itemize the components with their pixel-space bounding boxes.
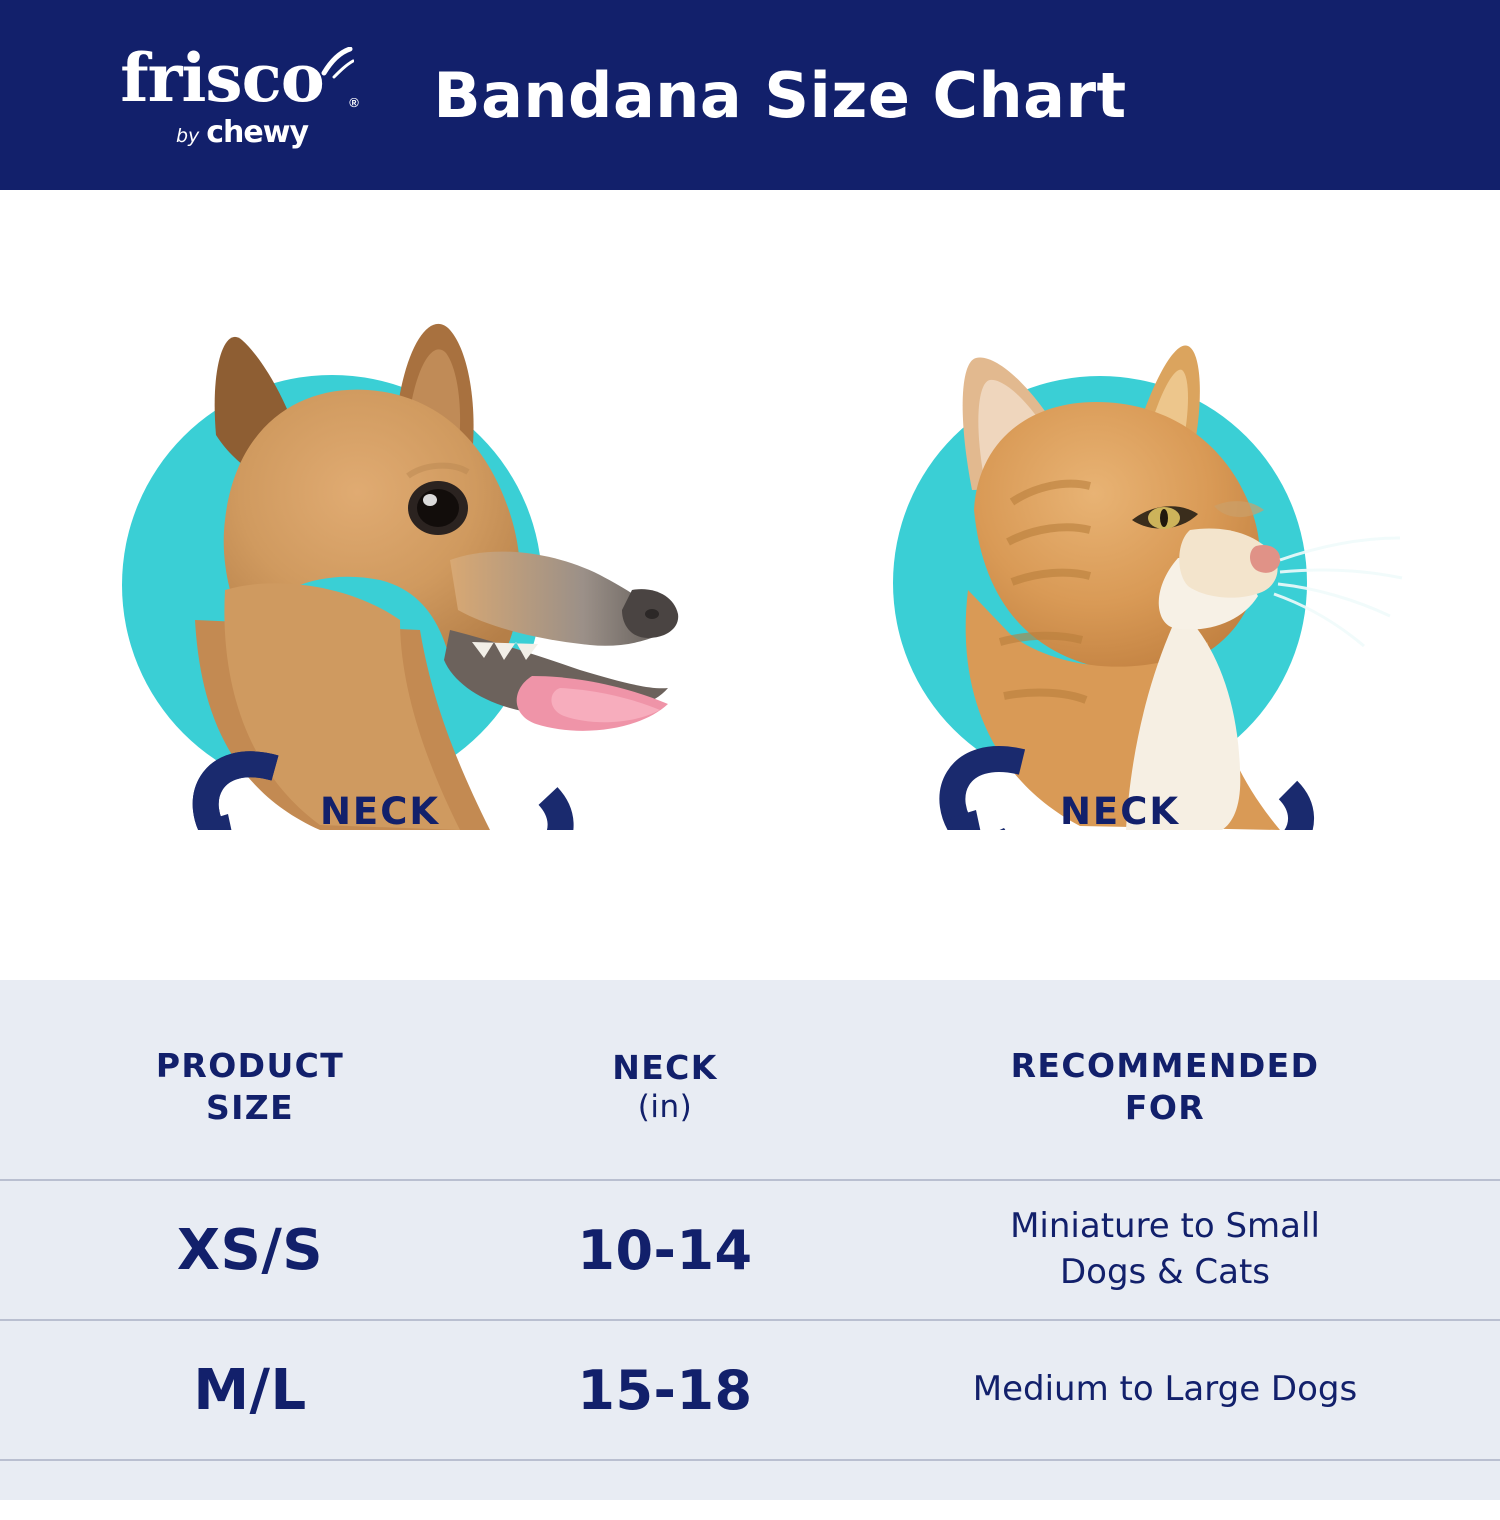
cell-product-size-1: XS/S [0, 1180, 500, 1320]
column-header-neck: NECK (in) [500, 980, 830, 1180]
logo-registered-mark: ® [349, 96, 358, 109]
column-header-recommended-for: RECOMMENDED FOR [830, 980, 1500, 1180]
frisco-logo: frisco ® by chewy [72, 32, 372, 162]
cell-recommended-1: Miniature to Small Dogs & Cats [830, 1180, 1500, 1320]
cell-recommended-2: Medium to Large Dogs [830, 1320, 1500, 1460]
table-bottom-rule [0, 1460, 1500, 1520]
logo-wordmark: frisco ® [120, 45, 324, 111]
column-header-product-size-line2: SIZE [206, 1088, 294, 1127]
dog-head-photo [20, 190, 740, 830]
cell-recommended-2-line1: Medium to Large Dogs [973, 1369, 1357, 1409]
logo-chewy-text: chewy [206, 115, 308, 150]
size-table-section: PRODUCT SIZE NECK (in) RECOMMENDED FOR X… [0, 980, 1500, 1500]
column-header-recommended-line2: FOR [1125, 1088, 1205, 1127]
pet-illustration-dog: NECK [20, 190, 740, 980]
cat-head-photo [760, 190, 1480, 830]
column-header-neck-line1: NECK [612, 1048, 718, 1087]
column-header-neck-unit: (in) [500, 1088, 830, 1127]
cell-recommended-1-line1: Miniature to Small [1010, 1206, 1320, 1246]
table-row: M/L 15-18 Medium to Large Dogs [0, 1320, 1500, 1460]
table-bottom-rule-cell-3 [830, 1460, 1500, 1520]
table-row: XS/S 10-14 Miniature to Small Dogs & Cat… [0, 1180, 1500, 1320]
logo-subline: by chewy [136, 115, 308, 150]
column-header-recommended-line1: RECOMMENDED [1011, 1046, 1320, 1085]
table-bottom-rule-cell-1 [0, 1460, 500, 1520]
cell-product-size-2: M/L [0, 1320, 500, 1460]
size-chart-table: PRODUCT SIZE NECK (in) RECOMMENDED FOR X… [0, 980, 1500, 1520]
page-header: Bandana Size Chart frisco ® by chewy [0, 0, 1500, 190]
column-header-product-size: PRODUCT SIZE [0, 980, 500, 1180]
illustration-section: NECK [0, 190, 1500, 980]
cell-neck-2: 15-18 [500, 1320, 830, 1460]
cell-recommended-1-line2: Dogs & Cats [1060, 1252, 1270, 1292]
neck-label-cat: NECK [760, 790, 1480, 833]
swoosh-icon [320, 47, 354, 81]
table-bottom-rule-cell-2 [500, 1460, 830, 1520]
column-header-product-size-line1: PRODUCT [156, 1046, 344, 1085]
pet-illustration-cat: NECK [760, 190, 1480, 980]
cell-neck-1: 10-14 [500, 1180, 830, 1320]
cat-head-art [963, 345, 1402, 830]
logo-by-text: by [176, 125, 199, 147]
logo-word-text: frisco [120, 39, 324, 117]
table-header-row: PRODUCT SIZE NECK (in) RECOMMENDED FOR [0, 980, 1500, 1180]
neck-label-dog: NECK [20, 790, 740, 833]
